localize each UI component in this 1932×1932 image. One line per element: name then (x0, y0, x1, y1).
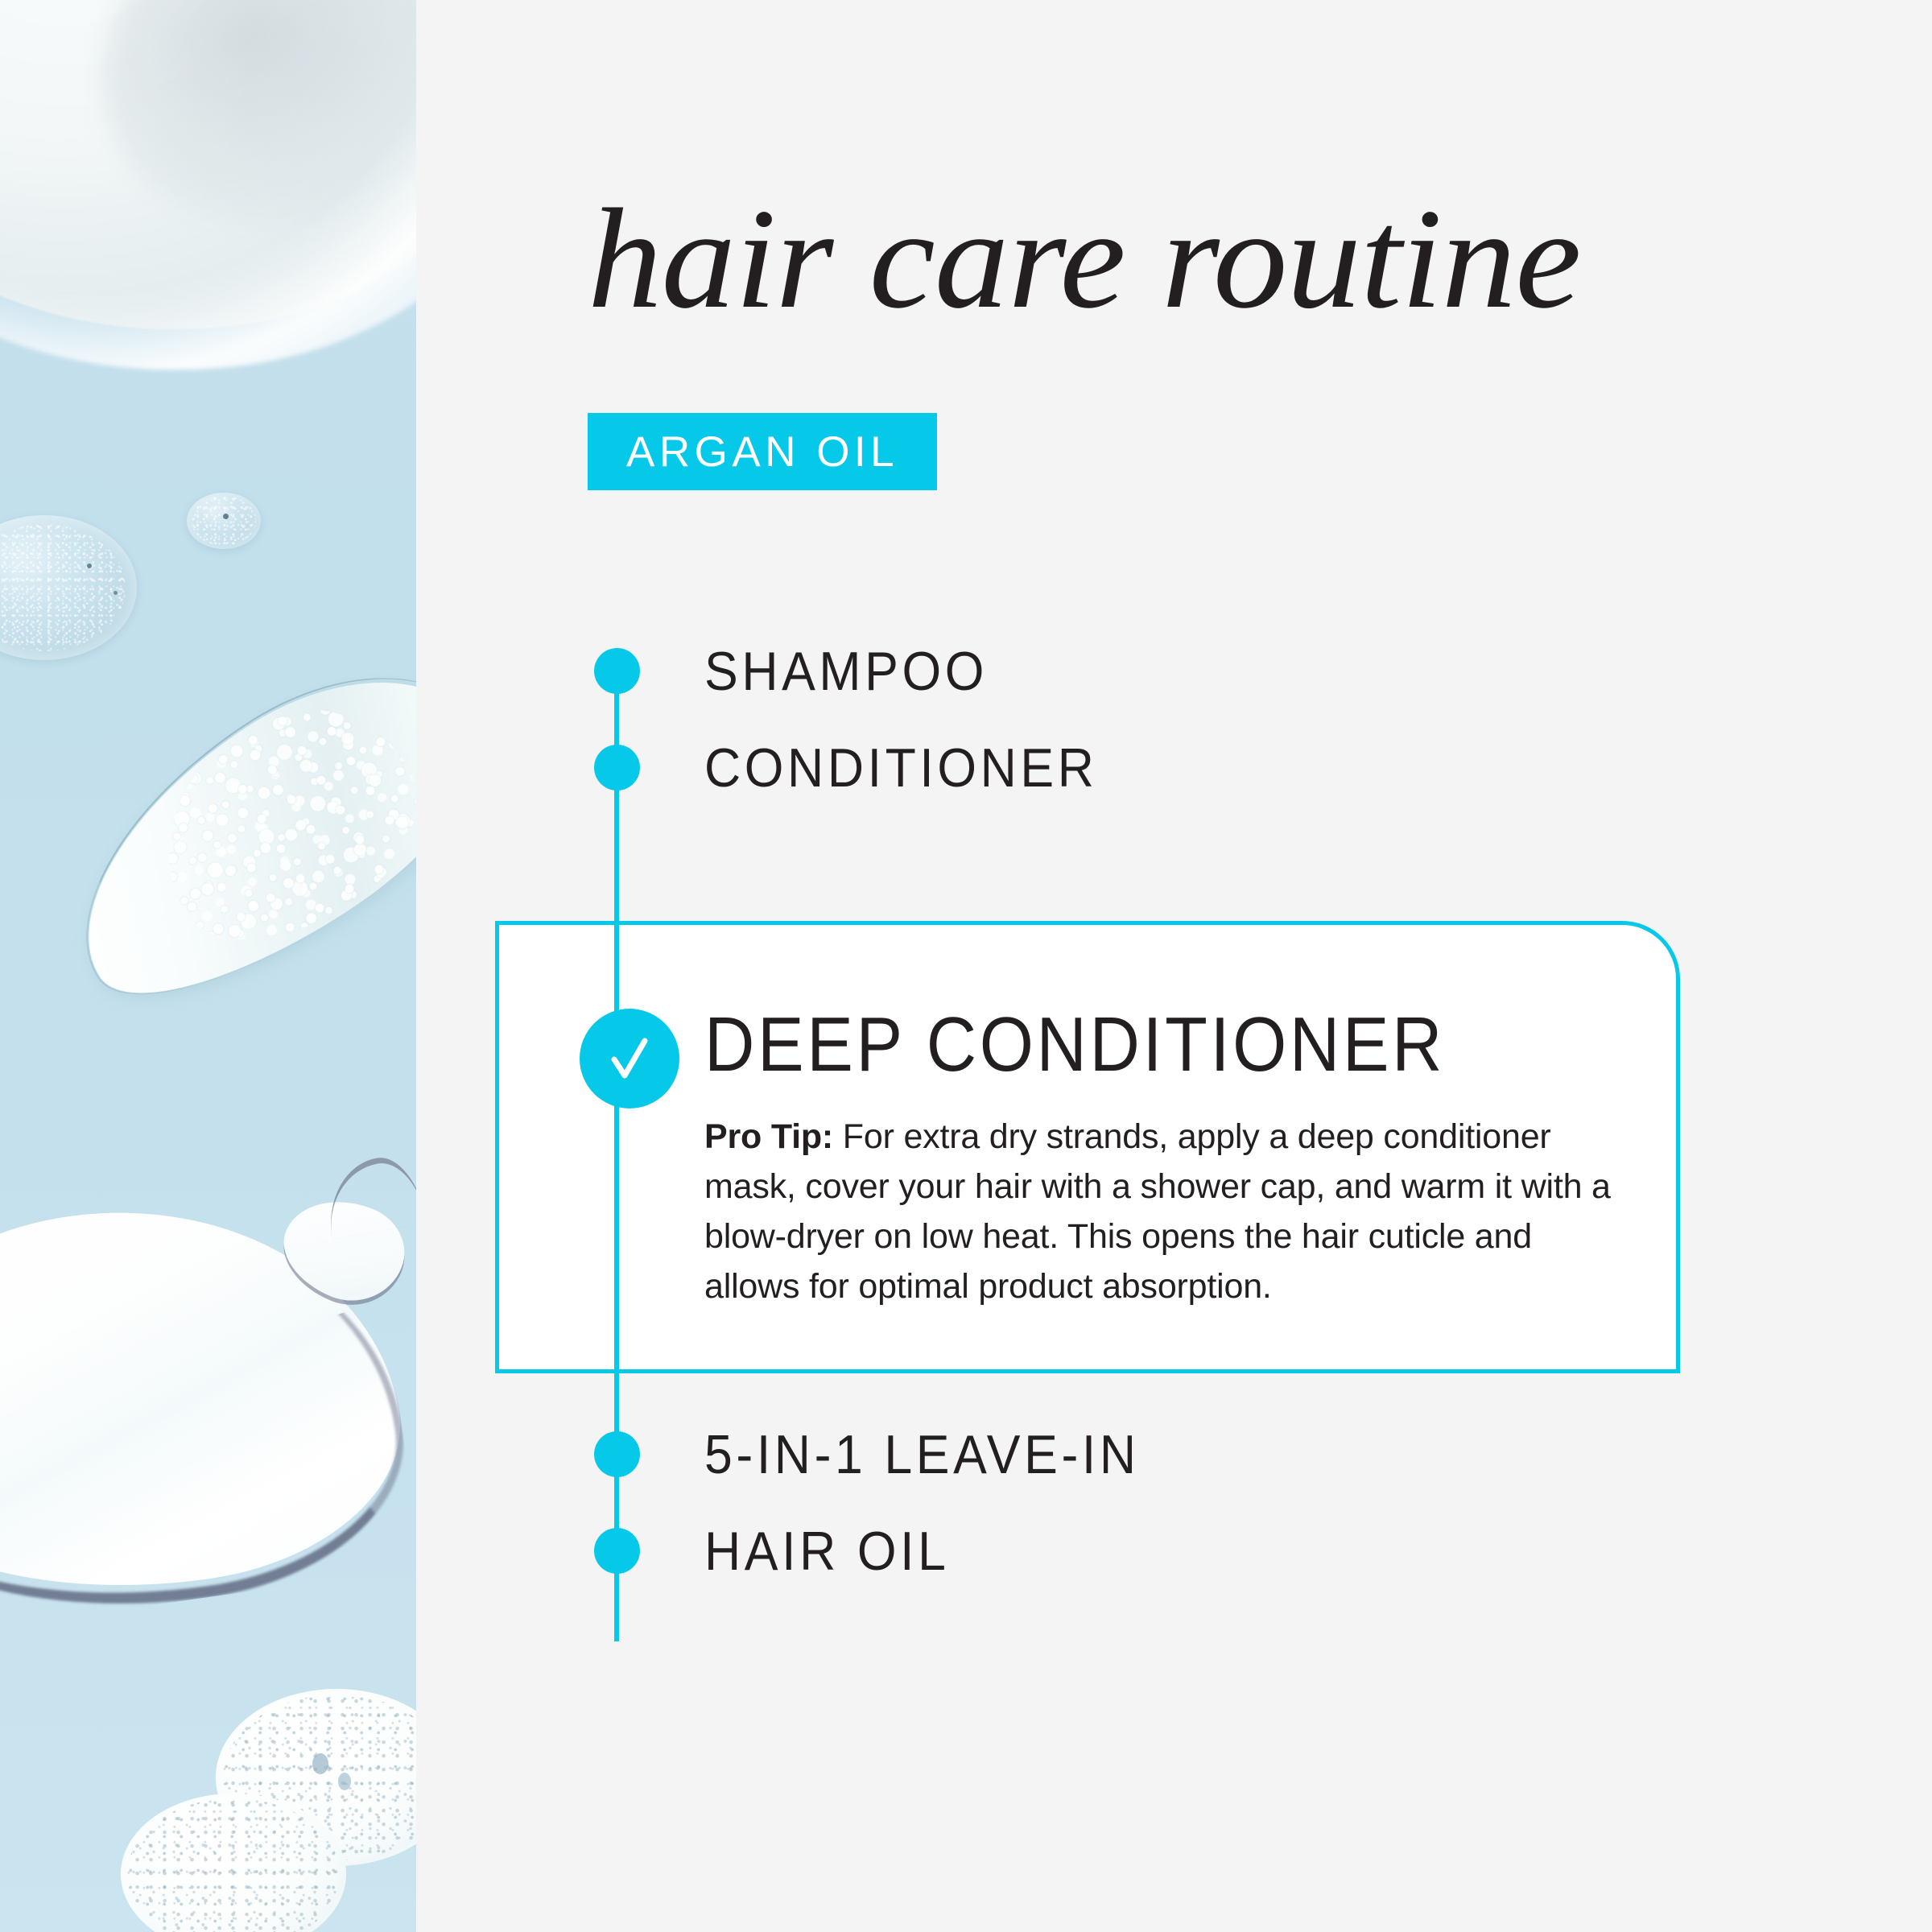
check-icon[interactable] (580, 1009, 679, 1108)
foam-bubble (312, 1753, 328, 1774)
pro-tip-body: For extra dry strands, apply a deep cond… (704, 1117, 1611, 1306)
card-pro-tip-text: Pro Tip: For extra dry strands, apply a … (704, 1113, 1614, 1312)
sidebar-item-conditioner[interactable]: CONDITIONER (704, 737, 1098, 799)
gel-droplet-small (187, 493, 261, 549)
sidebar-item-shampoo[interactable]: SHAMPOO (704, 640, 988, 703)
badge-label: ARGAN OIL (626, 427, 898, 477)
page-title: hair care routine (588, 187, 1580, 330)
card-title-deep-conditioner: DEEP CONDITIONER (704, 1001, 1445, 1089)
step-dot-hair-oil[interactable] (594, 1528, 640, 1574)
sidebar-item-hair-oil[interactable]: HAIR OIL (704, 1520, 949, 1583)
product-texture-panel (0, 0, 416, 1932)
argan-oil-badge: ARGAN OIL (588, 413, 937, 490)
pro-tip-label: Pro Tip: (704, 1117, 833, 1156)
step-dot-leave-in[interactable] (594, 1431, 640, 1477)
gel-speck (114, 591, 118, 595)
step-dot-conditioner[interactable] (594, 745, 640, 791)
foam-bubble (338, 1773, 351, 1790)
content-panel: hair care routine ARGAN OIL SHAMPOO COND… (416, 0, 1932, 1932)
timeline-connector-line (614, 671, 619, 1641)
sidebar-item-leave-in[interactable]: 5-IN-1 LEAVE-IN (704, 1423, 1140, 1486)
poster-root: hair care routine ARGAN OIL SHAMPOO COND… (0, 0, 1932, 1932)
gel-speck (223, 514, 229, 519)
gel-speck (87, 563, 92, 568)
step-dot-shampoo[interactable] (594, 648, 640, 694)
